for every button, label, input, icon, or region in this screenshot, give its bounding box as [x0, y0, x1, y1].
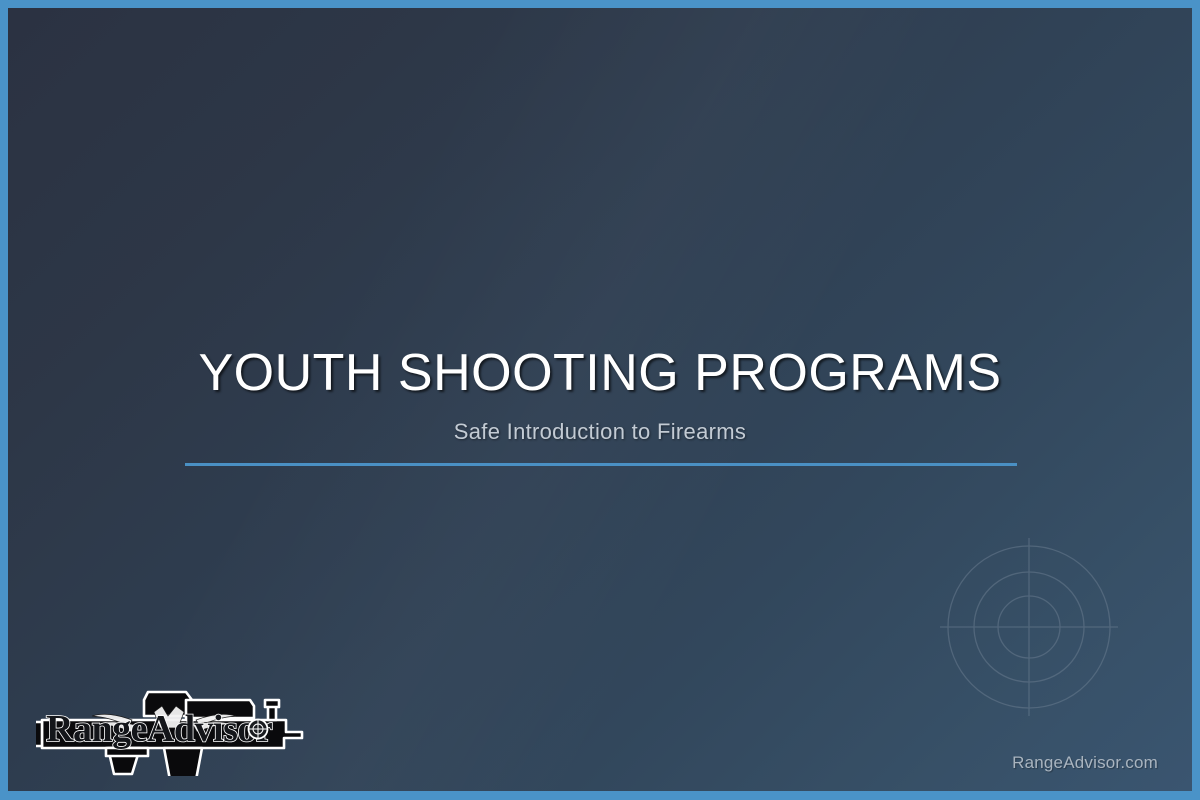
slide-canvas: YOUTH SHOOTING PROGRAMS Safe Introductio… — [8, 8, 1192, 791]
title-block: YOUTH SHOOTING PROGRAMS Safe Introductio… — [8, 346, 1192, 445]
accent-divider — [185, 463, 1017, 466]
rangeadvisor-logo: RangeAdvisor — [36, 676, 314, 776]
page-title: YOUTH SHOOTING PROGRAMS — [8, 346, 1192, 401]
scope-reticle-icon — [249, 720, 268, 739]
crosshair-target-icon — [940, 538, 1118, 716]
footer-website: RangeAdvisor.com — [1012, 753, 1158, 773]
page-subtitle: Safe Introduction to Firearms — [8, 401, 1192, 445]
logo-wordmark: RangeAdvisor — [46, 708, 273, 750]
presentation-slide: YOUTH SHOOTING PROGRAMS Safe Introductio… — [0, 0, 1200, 800]
